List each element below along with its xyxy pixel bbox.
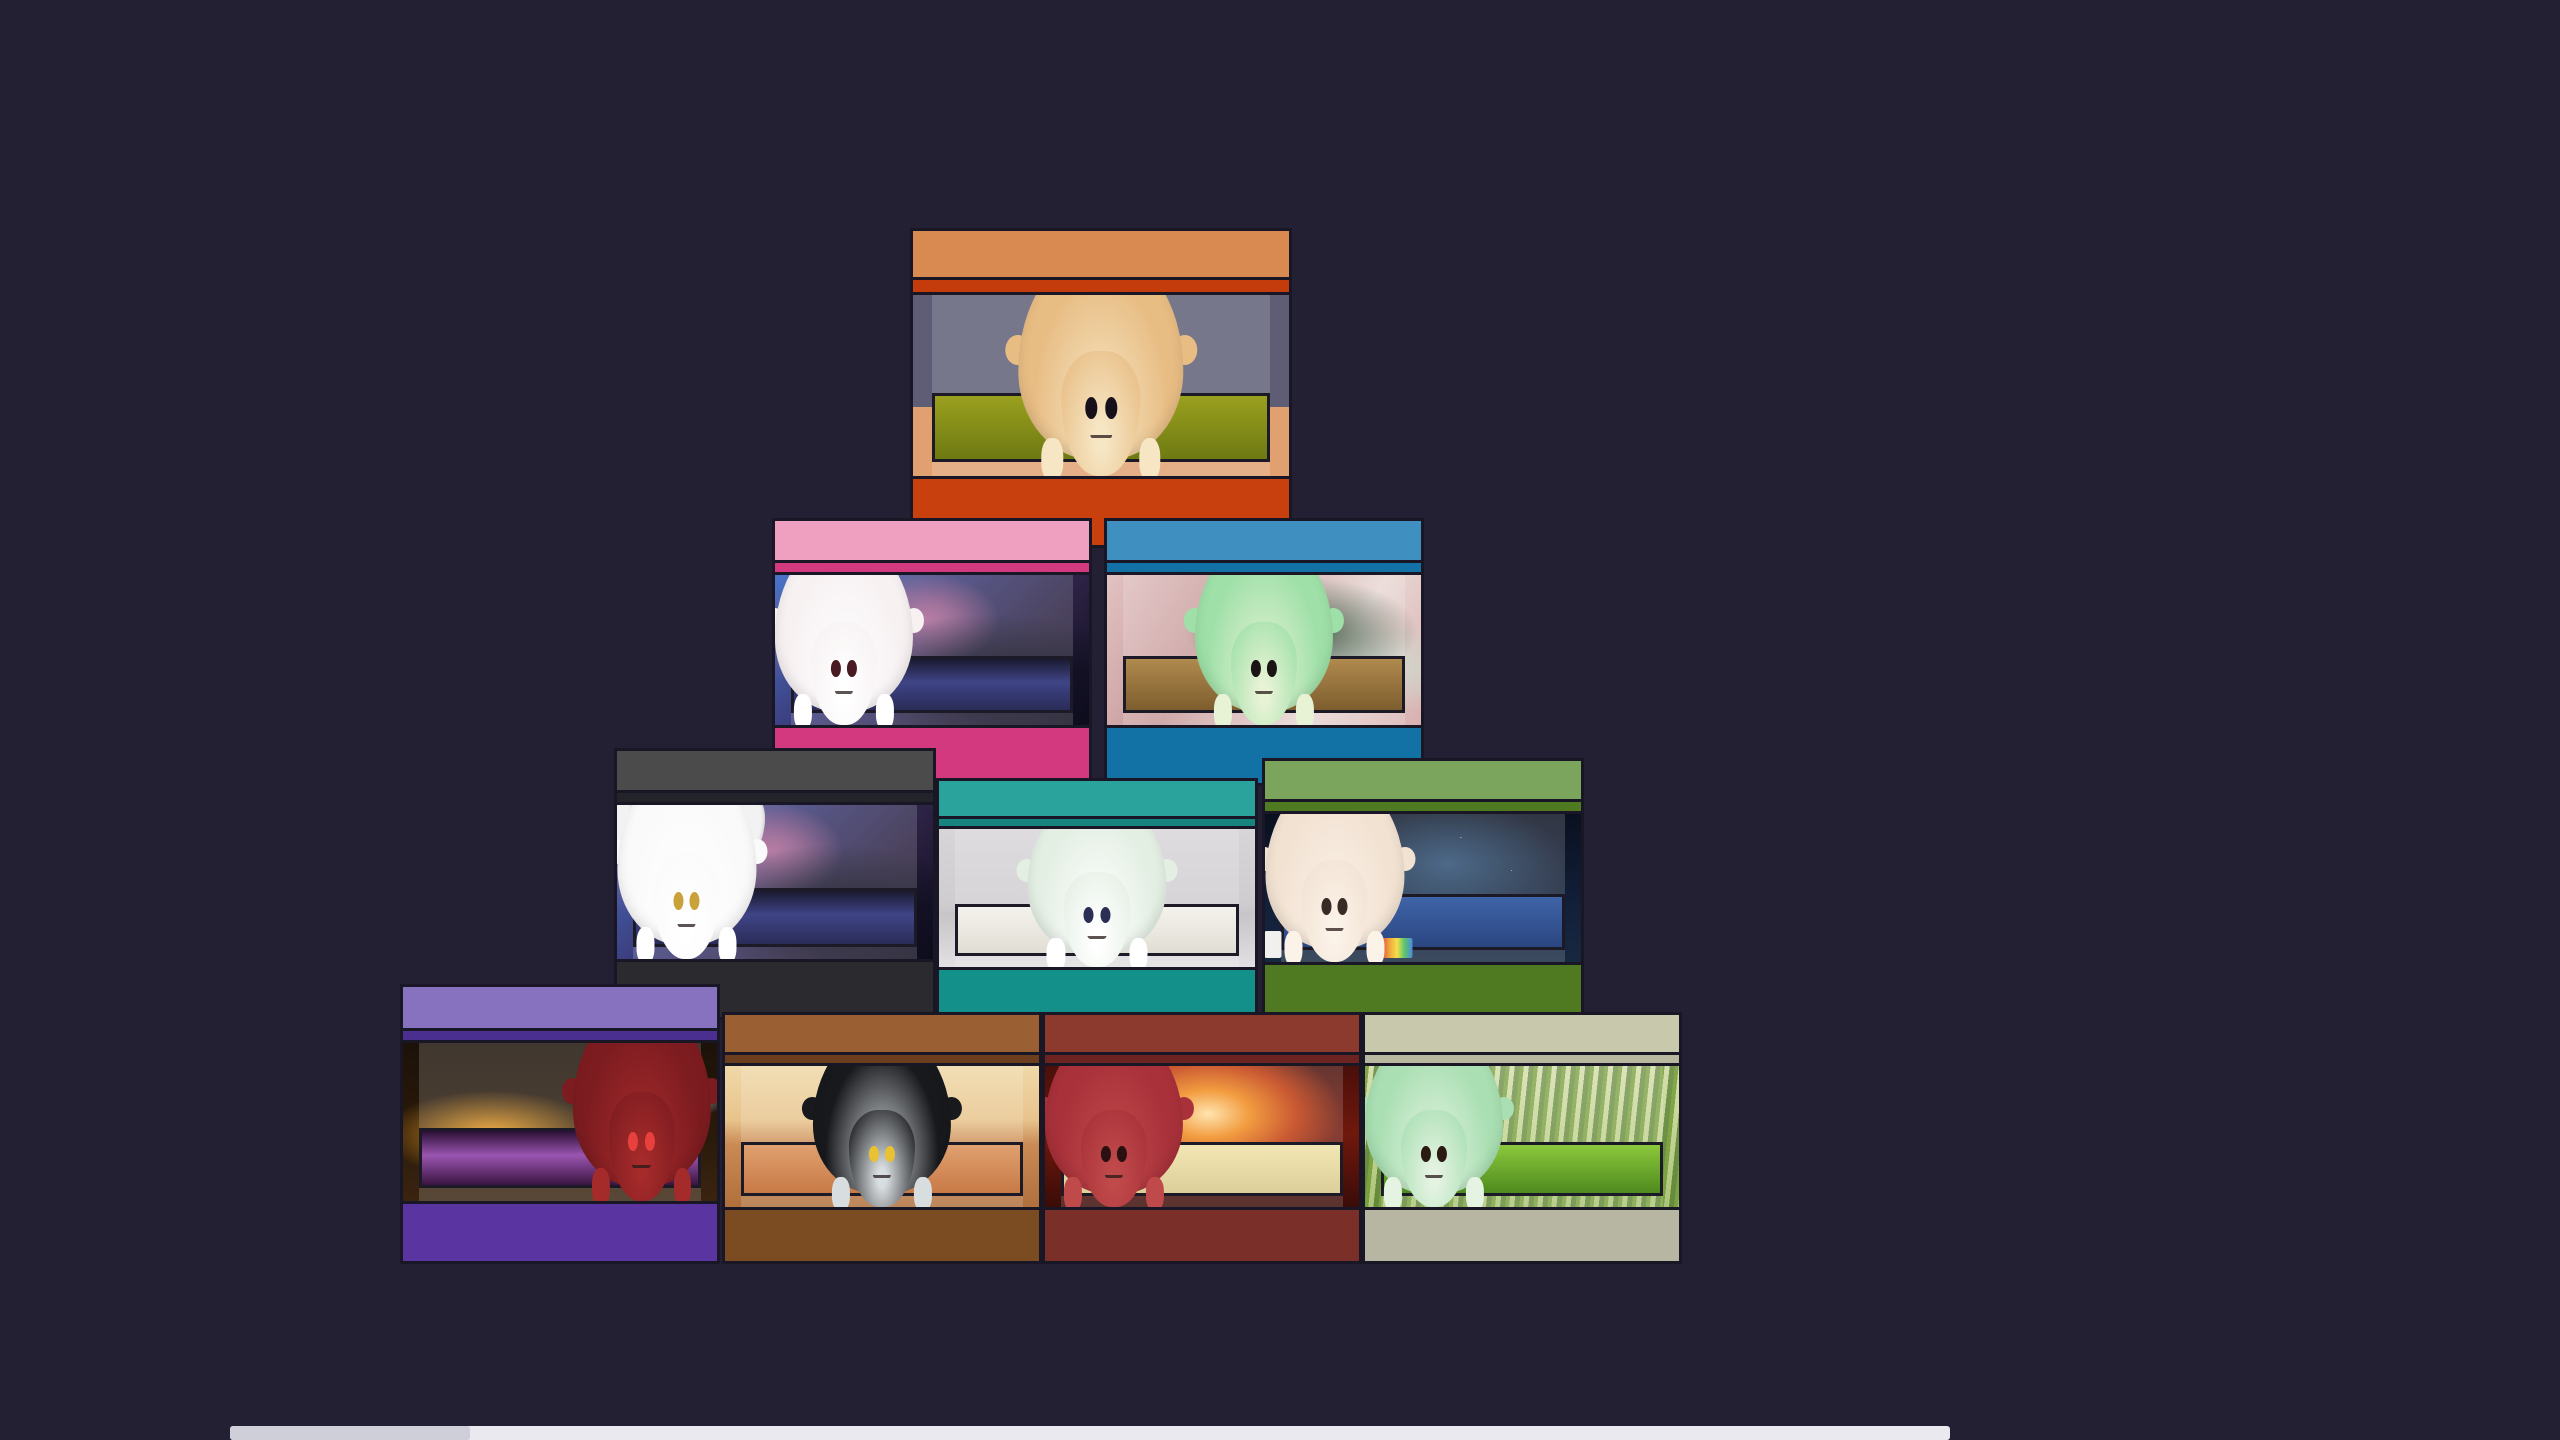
mouth [1255, 691, 1274, 696]
front-leg-left [1064, 1177, 1082, 1207]
front-leg-right [719, 927, 737, 959]
creature-sprite[interactable] [1018, 295, 1183, 476]
card-scene[interactable] [913, 295, 1289, 476]
card-accent-stripe [939, 816, 1255, 829]
mouth [835, 691, 854, 696]
scrollbar-thumb[interactable] [230, 1426, 470, 1440]
card-accent-stripe [1045, 1052, 1359, 1066]
card-header-band [725, 1015, 1039, 1052]
creature-face [1301, 860, 1368, 962]
card-accent-stripe [617, 790, 933, 805]
card-scene[interactable] [617, 805, 933, 959]
eye-left [831, 660, 841, 678]
creature-sprite[interactable] [1027, 829, 1166, 967]
front-leg-right [1296, 694, 1314, 726]
creature-face [1081, 1110, 1147, 1207]
card-scene[interactable] [1107, 575, 1421, 725]
eye-right [1267, 660, 1277, 678]
creature-sprite[interactable] [617, 805, 756, 959]
creature-sprite[interactable] [1195, 575, 1333, 725]
card-header-band [1045, 1015, 1359, 1052]
creature-card[interactable] [772, 518, 1092, 786]
card-accent-stripe [775, 560, 1089, 575]
card-accent-stripe [403, 1028, 717, 1043]
card-header-band [913, 231, 1289, 277]
front-leg-right [1367, 931, 1385, 962]
front-leg-right [876, 694, 894, 726]
front-leg-right [1139, 438, 1161, 476]
creature-face [811, 622, 877, 726]
mouth [1425, 1175, 1444, 1180]
creature-card[interactable] [400, 984, 720, 1264]
mouth [873, 1175, 892, 1180]
creature-face [653, 853, 720, 959]
front-leg-left [794, 694, 812, 726]
eye-left [673, 892, 683, 910]
card-header-band [1365, 1015, 1679, 1052]
card-accent-stripe [1107, 560, 1421, 575]
front-leg-left [1284, 931, 1302, 962]
front-leg-left [636, 927, 654, 959]
creature-card[interactable] [936, 778, 1258, 1022]
eye-right [1117, 1146, 1127, 1163]
mouth [1105, 1175, 1124, 1180]
eye-right [1105, 397, 1117, 418]
card-header-band [939, 781, 1255, 816]
card-footer-band [1265, 962, 1581, 1019]
card-scene[interactable] [775, 575, 1089, 725]
creature-card[interactable] [614, 748, 936, 1020]
front-leg-left [1214, 694, 1232, 726]
creature-sprite[interactable] [1045, 1066, 1183, 1207]
front-leg-right [1146, 1177, 1164, 1207]
card-header-band [1107, 521, 1421, 560]
creature-face [1401, 1110, 1467, 1207]
card-header-band [403, 987, 717, 1028]
gallery-stage [0, 0, 2560, 1440]
eye-right [690, 892, 700, 910]
crayon-icon [1382, 938, 1413, 958]
front-leg-right [914, 1177, 932, 1207]
front-leg-left [1047, 938, 1065, 967]
eye-left [1321, 898, 1331, 915]
card-scene[interactable] [1265, 814, 1581, 962]
creature-sprite[interactable] [775, 575, 913, 725]
eye-left [1421, 1146, 1431, 1163]
card-scene[interactable] [939, 829, 1255, 967]
creature-face [1064, 872, 1131, 967]
card-footer-band [1045, 1207, 1359, 1261]
creature-card[interactable] [1104, 518, 1424, 786]
front-leg-left [592, 1168, 610, 1201]
mouth [1325, 928, 1344, 933]
eye-right [1100, 907, 1110, 923]
front-leg-right [1466, 1177, 1484, 1207]
front-leg-right [673, 1168, 691, 1201]
card-accent-stripe [1265, 799, 1581, 814]
creature-card[interactable] [1362, 1012, 1682, 1264]
card-accent-stripe [913, 277, 1289, 295]
card-header-band [617, 751, 933, 790]
card-header-band [1265, 761, 1581, 799]
card-scene[interactable] [403, 1043, 717, 1201]
card-accent-stripe [1365, 1052, 1679, 1066]
card-footer-band [1365, 1207, 1679, 1261]
creature-face [1231, 622, 1297, 726]
card-header-band [775, 521, 1089, 560]
mouth [1090, 435, 1112, 441]
front-leg-left [1384, 1177, 1402, 1207]
card-footer-band [725, 1207, 1039, 1261]
eye-right [885, 1146, 895, 1163]
creature-sprite[interactable] [1265, 814, 1404, 962]
creature-face [849, 1110, 915, 1207]
eye-left [1084, 907, 1094, 923]
creature-card[interactable] [722, 1012, 1042, 1264]
mouth [1088, 936, 1107, 941]
card-footer-band [403, 1201, 717, 1261]
creature-sprite[interactable] [813, 1066, 951, 1207]
creature-card[interactable] [910, 228, 1292, 548]
eye-right [847, 660, 857, 678]
eye-right [1338, 898, 1348, 915]
card-accent-stripe [725, 1052, 1039, 1066]
card-scene[interactable] [1045, 1066, 1359, 1207]
card-scene[interactable] [1365, 1066, 1679, 1207]
creature-face [608, 1092, 674, 1201]
eye-right [1437, 1146, 1447, 1163]
creature-face [1061, 351, 1140, 476]
creature-sprite[interactable] [1365, 1066, 1503, 1207]
creature-card[interactable] [1042, 1012, 1362, 1264]
eye-left [1085, 397, 1097, 418]
card-scene[interactable] [725, 1066, 1039, 1207]
eye-left [1101, 1146, 1111, 1163]
front-leg-left [1041, 438, 1063, 476]
horizontal-scrollbar[interactable] [230, 1426, 1950, 1440]
eye-left [869, 1146, 879, 1163]
mouth [632, 1165, 651, 1170]
creature-sprite[interactable] [573, 1043, 711, 1201]
mouth [677, 924, 696, 929]
rocket-icon [1265, 931, 1282, 958]
creature-card[interactable] [1262, 758, 1584, 1022]
eye-right [645, 1132, 655, 1151]
eye-left [628, 1132, 638, 1151]
front-leg-right [1129, 938, 1147, 967]
front-leg-left [832, 1177, 850, 1207]
eye-left [1251, 660, 1261, 678]
